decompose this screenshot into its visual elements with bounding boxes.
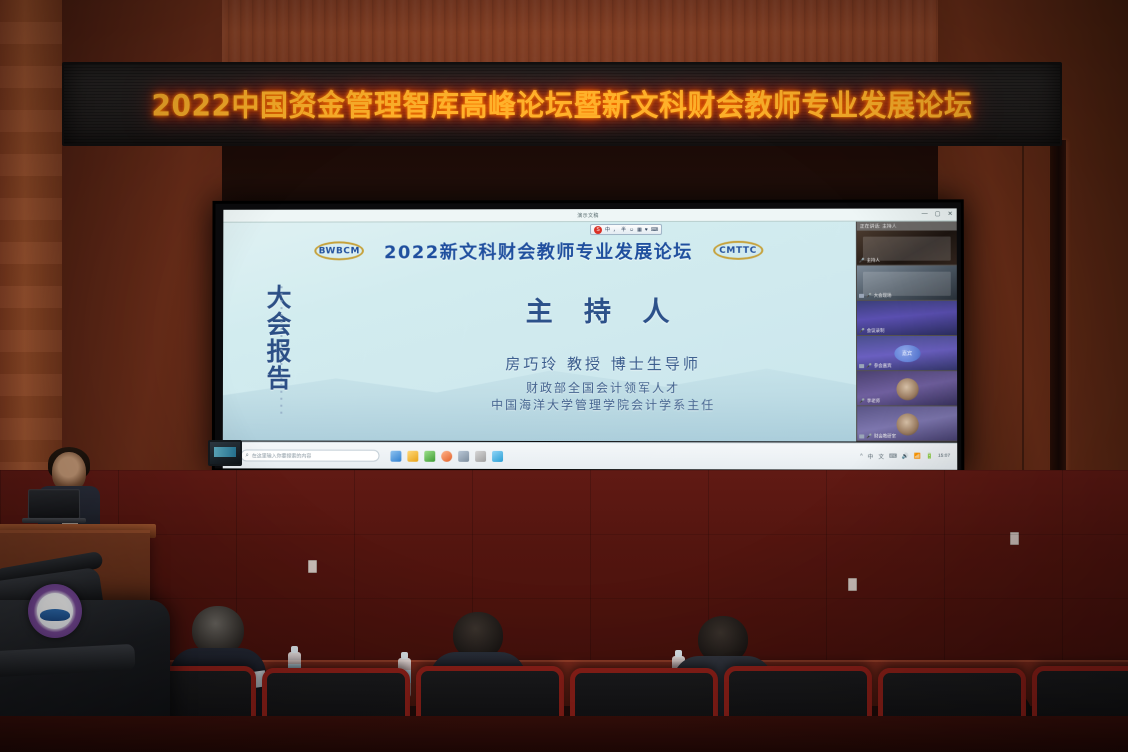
microphone-icon: 🎤 bbox=[866, 363, 872, 369]
ime-favorite-icon[interactable]: ♥ bbox=[645, 226, 648, 232]
participant-footer: 🎤 李老师 bbox=[859, 398, 955, 404]
participant-name: 主持人 bbox=[867, 258, 880, 264]
participant-footer: 🎤 大会现场 bbox=[859, 293, 955, 299]
system-tray[interactable]: ^ 中 文 ⌨ 🔊 📶 🔋 15:07 bbox=[860, 453, 953, 461]
tray-expand-icon[interactable]: ^ bbox=[860, 454, 863, 460]
emblem-inner bbox=[37, 593, 73, 629]
ime-mode-icon[interactable]: 中 bbox=[605, 226, 610, 233]
presentation-window: 演示文稿 — ▢ ✕ S 中 ， 半 ☺ ▦ bbox=[223, 208, 957, 441]
led-banner-text: 2022中国资金管理智库高峰论坛暨新文科财会教师专业发展论坛 bbox=[152, 83, 973, 125]
participant-name: 参会嘉宾 bbox=[874, 363, 892, 369]
camera-icon bbox=[859, 434, 864, 438]
ime-panel-icon[interactable]: ▦ bbox=[637, 226, 642, 232]
cmttc-logo-icon: CMTTC bbox=[709, 240, 767, 262]
ime-width-icon[interactable]: 半 bbox=[621, 226, 626, 233]
taskbar-app-icons[interactable] bbox=[390, 450, 503, 461]
close-icon[interactable]: ✕ bbox=[948, 211, 953, 217]
search-placeholder: 在这里输入你要搜索的内容 bbox=[252, 452, 312, 459]
taskbar-app-icon-3[interactable] bbox=[424, 450, 435, 461]
ime-punctuation-icon[interactable]: ， bbox=[613, 226, 618, 233]
podium-laptop-base bbox=[22, 518, 86, 523]
microphone-icon: 🎤 bbox=[859, 398, 865, 404]
participant-footer: 🎤 会议录制 bbox=[859, 328, 955, 334]
ime-emoji-icon[interactable]: ☺ bbox=[629, 227, 634, 233]
participant-tile[interactable]: 嘉宾 🎤 参会嘉宾 bbox=[857, 336, 957, 371]
tray-battery-icon[interactable]: 🔋 bbox=[926, 454, 933, 460]
participant-name: 大会现场 bbox=[874, 293, 892, 299]
search-icon: ⌕ bbox=[246, 452, 249, 459]
ocean-university-emblem-icon bbox=[28, 584, 82, 638]
auditorium-photo: 2022中国资金管理智库高峰论坛暨新文科财会教师专业发展论坛 演示文稿 — ▢ … bbox=[0, 0, 1128, 752]
slide-header-title: 2022新文科财会教师专业发展论坛 bbox=[384, 238, 693, 264]
taskbar-app-icon-2[interactable] bbox=[407, 450, 418, 461]
taskbar-clock-time[interactable]: 15:07 bbox=[938, 454, 950, 460]
window-title: 演示文稿 bbox=[577, 212, 599, 219]
taskbar-app-icon-5[interactable] bbox=[458, 450, 469, 461]
vertical-banner: 大 会 报 告 bbox=[266, 284, 291, 392]
microphone-icon: 🎤 bbox=[859, 258, 865, 264]
foreground-floor bbox=[0, 716, 1128, 752]
taskbar-app-icon-4[interactable] bbox=[441, 450, 452, 461]
camera-icon bbox=[859, 294, 864, 298]
meeting-participants-panel[interactable]: 正在讲话: 主持人 🎤 主持人 🎤 大会现场 bbox=[856, 221, 957, 441]
cmttc-logo-label: CMTTC bbox=[719, 246, 757, 256]
taskbar-app-icon-7[interactable] bbox=[492, 450, 503, 461]
participant-avatar bbox=[896, 413, 918, 435]
tray-ime-chinese-icon[interactable]: 中 bbox=[868, 453, 874, 461]
window-titlebar: 演示文稿 — ▢ ✕ bbox=[223, 208, 956, 222]
taskbar-app-icon-6[interactable] bbox=[475, 450, 486, 461]
maximize-icon[interactable]: ▢ bbox=[935, 211, 941, 217]
vertical-banner-char-4: 告 bbox=[266, 365, 291, 392]
participant-name: 财会教研室 bbox=[874, 433, 896, 439]
speaker-credential-2: 中国海洋大学管理学院会计学系主任 bbox=[372, 397, 836, 415]
tray-ime-language-icon[interactable]: 文 bbox=[878, 453, 884, 461]
slide-canvas: S 中 ， 半 ☺ ▦ ♥ ⌨ BWBCM 2022 bbox=[223, 222, 856, 442]
participant-tile[interactable]: 🎤 财会教研室 bbox=[857, 406, 957, 441]
tray-volume-icon[interactable]: 🔊 bbox=[902, 454, 909, 460]
participant-footer: 🎤 参会嘉宾 bbox=[859, 363, 955, 369]
slide-content: 主 持 人 房巧玲 教授 博士生导师 财政部全国会计领军人才 中国海洋大学管理学… bbox=[372, 290, 836, 415]
vertical-banner-dotted-rule bbox=[280, 286, 282, 413]
participant-footer: 🎤 财会教研室 bbox=[859, 433, 955, 439]
slide-header: BWBCM 2022新文科财会教师专业发展论坛 CMTTC bbox=[223, 238, 856, 265]
participant-tile[interactable]: 🎤 李老师 bbox=[857, 371, 957, 406]
tray-network-icon[interactable]: 📶 bbox=[914, 454, 921, 460]
taskbar-search-input[interactable]: ⌕ 在这里输入你要搜索的内容 bbox=[241, 449, 380, 461]
participant-avatar bbox=[896, 378, 918, 400]
participant-avatar: 嘉宾 bbox=[894, 345, 920, 362]
window-controls[interactable]: — ▢ ✕ bbox=[922, 211, 953, 217]
wall-outlet bbox=[308, 560, 317, 573]
active-speaker-label: 正在讲话: 主持人 bbox=[857, 221, 957, 230]
ime-logo-icon: S bbox=[594, 226, 602, 234]
windows-taskbar[interactable]: ⌕ 在这里输入你要搜索的内容 ^ 中 文 ⌨ 🔊 📶 🔋 15:07 bbox=[223, 441, 958, 469]
microphone-icon: 🎤 bbox=[866, 293, 872, 299]
slide-headline: 主 持 人 bbox=[372, 290, 836, 329]
ime-keyboard-icon[interactable]: ⌨ bbox=[651, 226, 658, 232]
participant-name: 会议录制 bbox=[867, 328, 885, 334]
participant-tile[interactable]: 🎤 大会现场 bbox=[857, 266, 957, 301]
microphone-icon: 🎤 bbox=[859, 328, 865, 334]
podium-laptop bbox=[28, 489, 80, 519]
wall-outlet bbox=[1010, 532, 1019, 545]
emblem-wave-icon bbox=[40, 609, 70, 621]
participant-name: 李老师 bbox=[867, 398, 880, 404]
participant-tile[interactable]: 🎤 会议录制 bbox=[857, 301, 957, 336]
window-body: S 中 ， 半 ☺ ▦ ♥ ⌨ BWBCM 2022 bbox=[223, 221, 957, 441]
tray-keyboard-icon[interactable]: ⌨ bbox=[889, 454, 897, 460]
microphone-icon: 🎤 bbox=[866, 433, 872, 439]
bwbcm-logo-label: BWBCM bbox=[319, 246, 360, 256]
vertical-banner-char-3: 报 bbox=[267, 338, 292, 365]
speaker-credential-1: 财政部全国会计领军人才 bbox=[372, 380, 836, 398]
participant-footer: 🎤 主持人 bbox=[859, 258, 955, 264]
participant-tile[interactable]: 🎤 主持人 bbox=[857, 230, 957, 265]
wall-outlet bbox=[848, 578, 857, 591]
projection-screen: 演示文稿 — ▢ ✕ S 中 ， 半 ☺ ▦ bbox=[212, 199, 964, 473]
taskbar-app-icon-1[interactable] bbox=[390, 450, 401, 461]
led-banner: 2022中国资金管理智库高峰论坛暨新文科财会教师专业发展论坛 bbox=[62, 62, 1062, 146]
wall-mounted-monitor bbox=[208, 440, 242, 466]
ime-toolbar[interactable]: S 中 ， 半 ☺ ▦ ♥ ⌨ bbox=[590, 224, 662, 235]
camera-icon bbox=[859, 364, 864, 368]
vertical-banner-char-2: 会 bbox=[267, 311, 292, 338]
vertical-banner-char-1: 大 bbox=[267, 284, 292, 311]
speaker-name-line: 房巧玲 教授 博士生导师 bbox=[372, 353, 836, 374]
bwbcm-logo-icon: BWBCM bbox=[311, 240, 369, 262]
minimize-icon[interactable]: — bbox=[922, 211, 928, 217]
